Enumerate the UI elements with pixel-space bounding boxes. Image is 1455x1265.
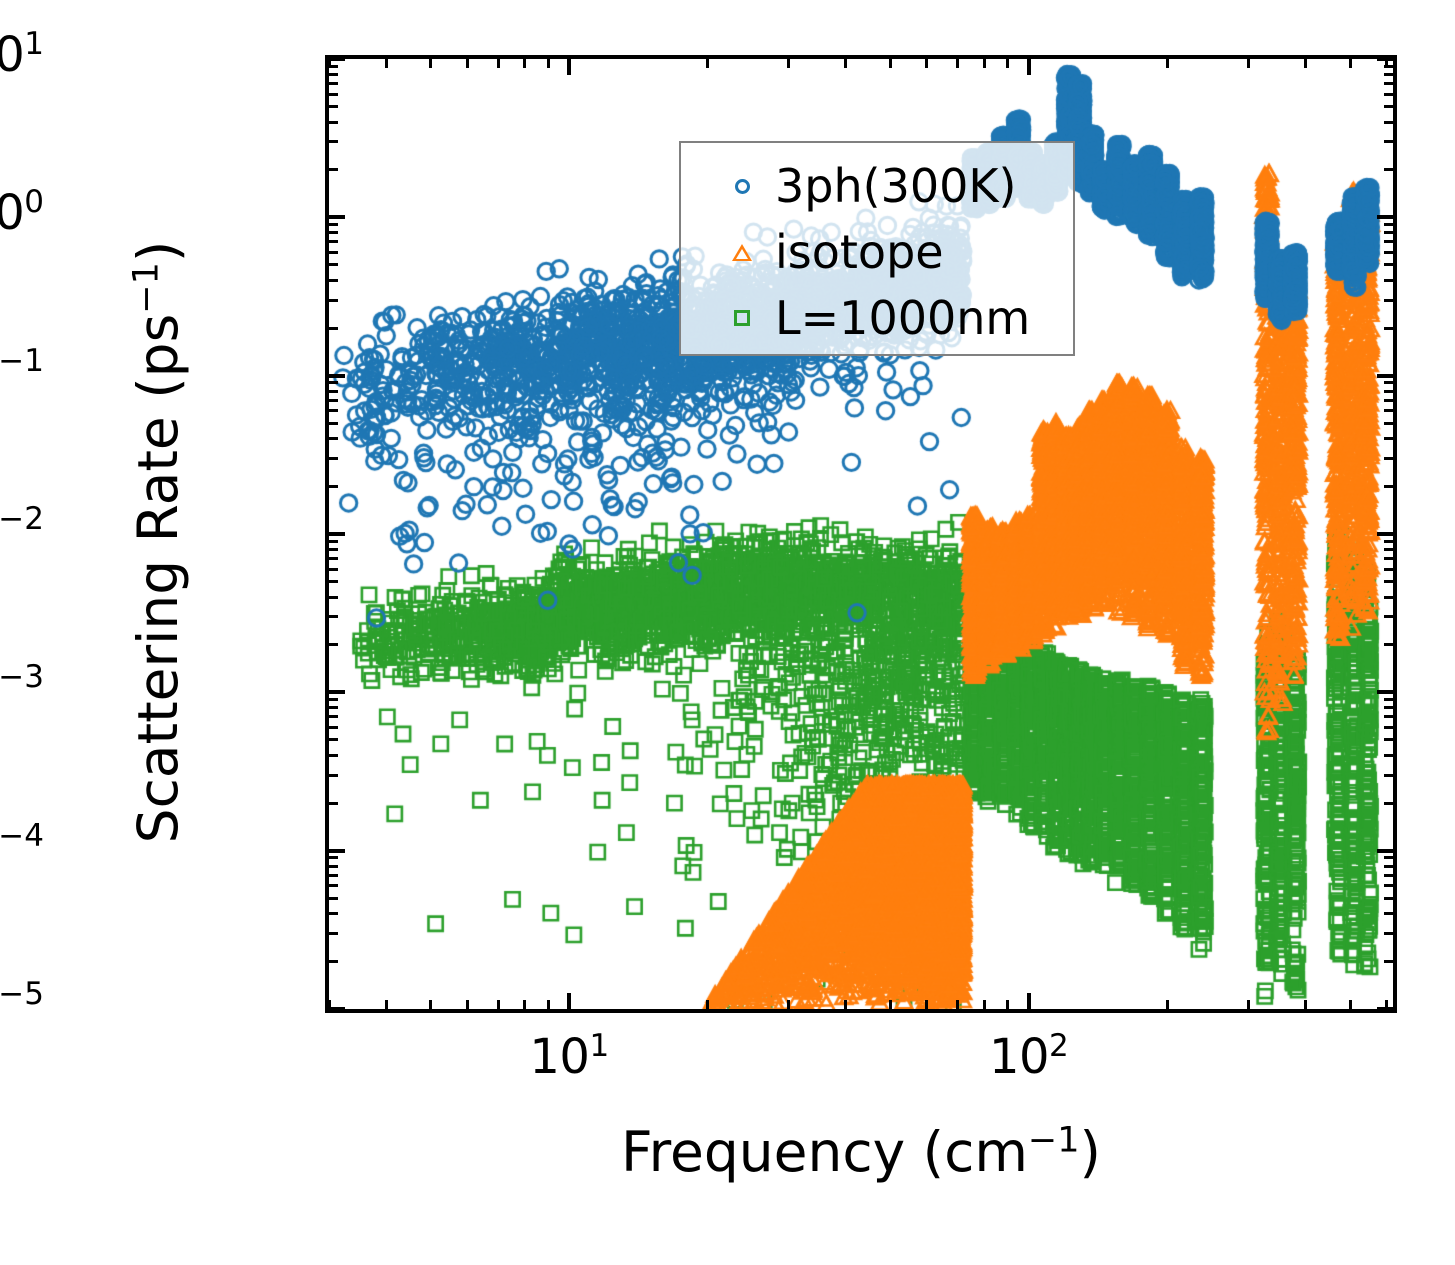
x-tick-minor: [925, 1000, 928, 1009]
x-tick-minor: [1385, 1000, 1388, 1009]
y-tick-minor-right: [1384, 105, 1393, 108]
x-tick-minor: [1304, 1000, 1307, 1009]
y-tick-major: [329, 215, 345, 219]
y-tick-minor-right: [1384, 897, 1393, 900]
x-tick-minor-top: [1349, 59, 1352, 68]
y-tick-major: [329, 849, 345, 853]
y-tick-minor: [329, 865, 338, 868]
y-tick-minor-right: [1384, 596, 1393, 599]
x-tick-minor: [466, 1000, 469, 1009]
x-tick-minor-top: [523, 59, 526, 68]
y-tick-label: 10−5: [0, 979, 44, 1029]
x-tick-minor-top: [956, 59, 959, 68]
x-tick-major-top: [1027, 59, 1031, 75]
y-tick-minor: [329, 140, 338, 143]
x-tick-minor-top: [497, 59, 500, 68]
y-tick-minor-right: [1384, 93, 1393, 96]
y-tick-minor: [329, 912, 338, 915]
y-tick-minor: [329, 884, 338, 887]
plot-frame: 3ph(300K) isotope L=1000nm: [325, 55, 1397, 1013]
y-tick-minor: [329, 802, 338, 805]
y-tick-minor-right: [1384, 381, 1393, 384]
y-tick-minor-right: [1384, 774, 1393, 777]
circle-marker-icon: [715, 179, 769, 194]
y-tick-minor: [329, 390, 338, 393]
y-tick-label: 100: [0, 187, 44, 237]
y-tick-minor-right: [1384, 548, 1393, 551]
y-tick-minor: [329, 409, 338, 412]
x-tick-minor: [983, 1000, 986, 1009]
x-tick-minor: [1247, 1000, 1250, 1009]
x-tick-minor-top: [706, 59, 709, 68]
x-tick-minor-top: [1304, 59, 1307, 68]
y-tick-minor: [329, 615, 338, 618]
x-tick-minor-top: [844, 59, 847, 68]
y-tick-minor: [329, 223, 338, 226]
y-tick-minor: [329, 457, 338, 460]
legend-entry-boundary[interactable]: L=1000nm: [681, 285, 1073, 351]
y-tick-minor-right: [1384, 932, 1393, 935]
y-tick-minor: [329, 299, 338, 302]
y-tick-minor: [329, 754, 338, 757]
y-tick-minor-right: [1384, 580, 1393, 583]
y-tick-minor-right: [1384, 457, 1393, 460]
y-axis-title: Scattering Rate (ps−1): [126, 62, 190, 1022]
y-tick-minor-right: [1384, 327, 1393, 330]
y-tick-minor-right: [1384, 643, 1393, 646]
y-tick-minor: [329, 422, 338, 425]
y-tick-major: [329, 532, 345, 536]
y-tick-major: [329, 1007, 345, 1011]
y-tick-minor-right: [1384, 754, 1393, 757]
y-tick-major-right: [1377, 690, 1393, 694]
y-tick-minor: [329, 596, 338, 599]
y-tick-minor: [329, 540, 338, 543]
x-tick-minor-top: [889, 59, 892, 68]
y-tick-minor: [329, 774, 338, 777]
y-tick-minor: [329, 251, 338, 254]
y-tick-minor-right: [1384, 485, 1393, 488]
y-tick-major: [329, 374, 345, 378]
x-tick-minor: [844, 1000, 847, 1009]
x-tick-minor-top: [787, 59, 790, 68]
y-tick-minor: [329, 738, 338, 741]
y-tick-minor: [329, 279, 338, 282]
y-tick-minor-right: [1384, 856, 1393, 859]
y-tick-minor-right: [1384, 399, 1393, 402]
y-tick-minor-right: [1384, 240, 1393, 243]
y-tick-major: [329, 690, 345, 694]
y-tick-minor-right: [1384, 960, 1393, 963]
x-tick-minor-top: [1385, 59, 1388, 68]
legend-label-isotope: isotope: [775, 229, 944, 275]
y-tick-minor: [329, 437, 338, 440]
x-tick-minor: [1349, 1000, 1352, 1009]
x-tick-minor: [1166, 1000, 1169, 1009]
y-tick-minor-right: [1384, 121, 1393, 124]
y-tick-minor-right: [1384, 82, 1393, 85]
x-tick-major: [567, 993, 571, 1009]
y-tick-minor-right: [1384, 409, 1393, 412]
y-tick-minor-right: [1384, 615, 1393, 618]
y-tick-minor: [329, 105, 338, 108]
y-tick-minor-right: [1384, 223, 1393, 226]
triangle-marker-icon: [715, 244, 769, 261]
y-tick-minor: [329, 698, 338, 701]
y-tick-minor: [329, 82, 338, 85]
x-tick-major: [1027, 993, 1031, 1009]
y-tick-major-right: [1377, 374, 1393, 378]
y-tick-minor: [329, 399, 338, 402]
y-tick-minor: [329, 121, 338, 124]
y-tick-minor-right: [1384, 726, 1393, 729]
x-tick-label: 101: [479, 1031, 659, 1081]
y-tick-minor: [329, 874, 338, 877]
y-tick-minor-right: [1384, 802, 1393, 805]
y-tick-minor-right: [1384, 251, 1393, 254]
y-tick-minor: [329, 485, 338, 488]
y-tick-minor-right: [1384, 279, 1393, 282]
legend-label-boundary: L=1000nm: [775, 295, 1030, 341]
y-tick-minor: [329, 557, 338, 560]
x-tick-minor: [889, 1000, 892, 1009]
x-tick-minor: [547, 1000, 550, 1009]
y-tick-minor-right: [1384, 568, 1393, 571]
square-marker-icon: [715, 310, 769, 326]
y-tick-minor-right: [1384, 140, 1393, 143]
x-tick-minor: [956, 1000, 959, 1009]
y-tick-minor: [329, 263, 338, 266]
x-tick-major-top: [567, 59, 571, 75]
y-tick-label: 10−4: [0, 821, 44, 871]
x-tick-minor-top: [328, 59, 331, 68]
x-tick-minor: [1006, 1000, 1009, 1009]
y-tick-minor: [329, 856, 338, 859]
x-tick-label: 102: [939, 1031, 1119, 1081]
x-tick-minor-top: [925, 59, 928, 68]
y-tick-minor-right: [1384, 231, 1393, 234]
y-tick-minor-right: [1384, 299, 1393, 302]
x-tick-minor: [429, 1000, 432, 1009]
y-tick-minor: [329, 706, 338, 709]
y-tick-minor-right: [1384, 698, 1393, 701]
x-tick-minor-top: [385, 59, 388, 68]
y-tick-minor-right: [1384, 865, 1393, 868]
y-tick-minor: [329, 240, 338, 243]
y-tick-minor: [329, 168, 338, 171]
y-tick-minor: [329, 897, 338, 900]
x-tick-minor-top: [983, 59, 986, 68]
x-axis-title: Frequency (cm−1): [325, 1120, 1397, 1184]
legend-entry-3ph[interactable]: 3ph(300K): [681, 153, 1073, 219]
y-tick-minor: [329, 643, 338, 646]
x-tick-minor-top: [466, 59, 469, 68]
y-tick-minor-right: [1384, 706, 1393, 709]
y-tick-minor-right: [1384, 263, 1393, 266]
y-tick-minor-right: [1384, 874, 1393, 877]
y-tick-minor: [329, 726, 338, 729]
y-tick-minor: [329, 568, 338, 571]
y-tick-minor-right: [1384, 437, 1393, 440]
x-tick-minor: [328, 1000, 331, 1009]
y-tick-minor-right: [1384, 540, 1393, 543]
y-tick-minor: [329, 73, 338, 76]
y-tick-major: [329, 57, 345, 61]
y-tick-minor: [329, 381, 338, 384]
x-tick-minor-top: [429, 59, 432, 68]
x-tick-minor: [523, 1000, 526, 1009]
y-tick-minor: [329, 932, 338, 935]
x-tick-minor: [385, 1000, 388, 1009]
x-tick-minor-top: [547, 59, 550, 68]
y-tick-minor: [329, 580, 338, 583]
y-tick-minor: [329, 715, 338, 718]
y-tick-minor-right: [1384, 168, 1393, 171]
y-tick-label: 10−3: [0, 662, 44, 712]
x-tick-minor-top: [1166, 59, 1169, 68]
x-tick-minor: [787, 1000, 790, 1009]
y-tick-minor-right: [1384, 557, 1393, 560]
y-tick-minor: [329, 327, 338, 330]
y-tick-minor-right: [1384, 422, 1393, 425]
y-tick-minor: [329, 548, 338, 551]
y-tick-minor-right: [1384, 390, 1393, 393]
y-tick-minor-right: [1384, 738, 1393, 741]
y-tick-major-right: [1377, 849, 1393, 853]
y-tick-label: 101: [0, 29, 44, 79]
x-tick-minor-top: [1247, 59, 1250, 68]
y-tick-label: 10−1: [0, 346, 44, 396]
y-tick-minor: [329, 93, 338, 96]
y-tick-minor-right: [1384, 715, 1393, 718]
x-tick-minor-top: [1006, 59, 1009, 68]
y-tick-major-right: [1377, 215, 1393, 219]
y-tick-minor-right: [1384, 884, 1393, 887]
x-tick-minor: [497, 1000, 500, 1009]
y-tick-minor: [329, 231, 338, 234]
y-tick-label: 10−2: [0, 504, 44, 554]
legend-box[interactable]: 3ph(300K) isotope L=1000nm: [679, 141, 1075, 356]
y-tick-minor-right: [1384, 912, 1393, 915]
y-tick-major-right: [1377, 532, 1393, 536]
scatter-plot-figure: Scattering Rate (ps−1) Frequency (cm−1) …: [0, 0, 1455, 1265]
legend-label-3ph: 3ph(300K): [775, 163, 1016, 209]
y-tick-minor-right: [1384, 73, 1393, 76]
legend-entry-isotope[interactable]: isotope: [681, 219, 1073, 285]
y-tick-minor: [329, 960, 338, 963]
x-tick-minor: [706, 1000, 709, 1009]
